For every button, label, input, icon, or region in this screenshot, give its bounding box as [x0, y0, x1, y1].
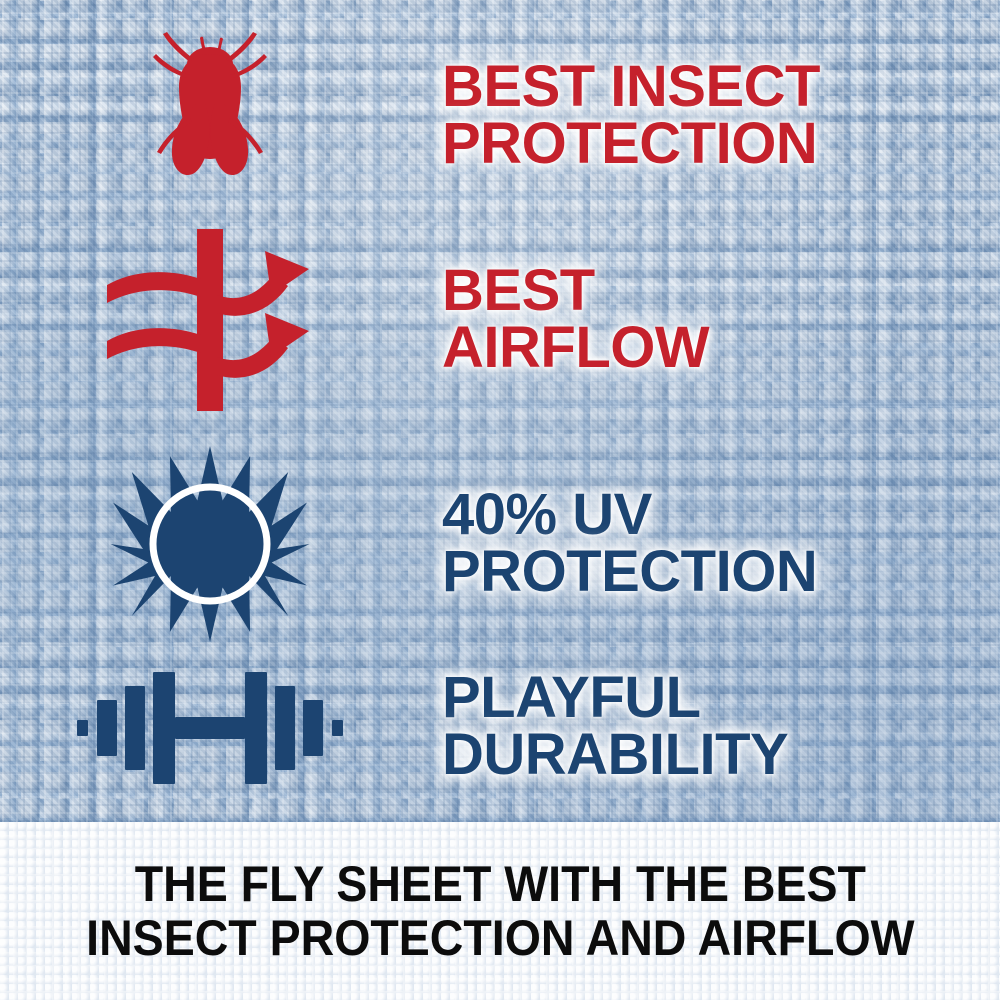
feature-label-durability: PLAYFUL DURABILITY — [442, 670, 1000, 784]
caption-headline: THE FLY SHEET WITH THE BEST INSECT PROTE… — [86, 857, 914, 965]
caption-band: THE FLY SHEET WITH THE BEST INSECT PROTE… — [0, 822, 1000, 1000]
sun-uv-icon — [110, 444, 310, 644]
feature-list: BEST INSECT PROTECTION — [0, 0, 1000, 822]
feature-icon-cell — [0, 444, 420, 644]
feature-text-cell: BEST INSECT PROTECTION — [420, 59, 1000, 173]
feature-label-uv-protection: 40% UV PROTECTION — [442, 487, 1000, 601]
dumbbell-icon — [75, 662, 345, 792]
feature-text-cell: BEST AIRFLOW — [420, 263, 1000, 377]
feature-row-airflow: BEST AIRFLOW — [0, 222, 1000, 418]
airflow-arrows-icon — [105, 225, 315, 415]
product-feature-infographic: BEST INSECT PROTECTION — [0, 0, 1000, 1000]
feature-label-insect-protection: BEST INSECT PROTECTION — [442, 59, 1000, 173]
feature-icon-cell — [0, 225, 420, 415]
feature-label-airflow: BEST AIRFLOW — [442, 263, 1000, 377]
feature-icon-cell — [0, 26, 420, 206]
feature-icon-cell — [0, 662, 420, 792]
feature-row-insect-protection: BEST INSECT PROTECTION — [0, 26, 1000, 206]
feature-row-uv-protection: 40% UV PROTECTION — [0, 440, 1000, 648]
feature-text-cell: 40% UV PROTECTION — [420, 487, 1000, 601]
fly-icon — [135, 26, 285, 206]
feature-text-cell: PLAYFUL DURABILITY — [420, 670, 1000, 784]
feature-row-durability: PLAYFUL DURABILITY — [0, 652, 1000, 802]
